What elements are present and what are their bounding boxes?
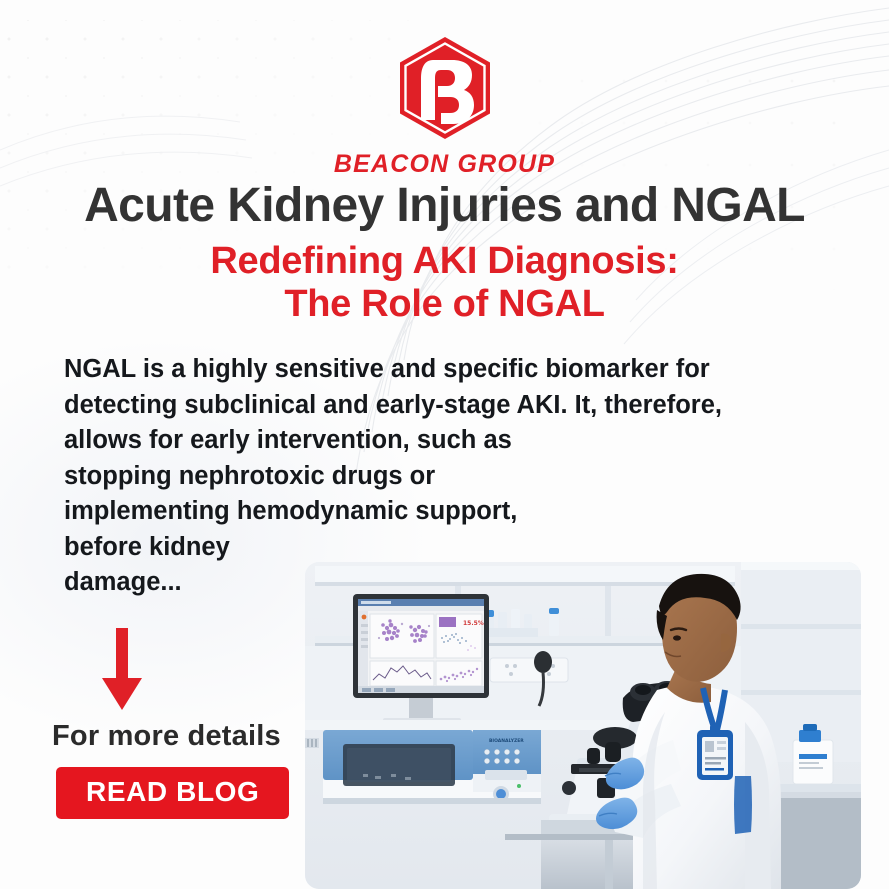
beacon-hexagon-b-logo-icon	[395, 34, 495, 142]
body-line: detecting subclinical and early-stage AK…	[64, 388, 824, 424]
body-line: before kidney	[64, 530, 824, 566]
body-line: NGAL is a highly sensitive and specific …	[64, 352, 824, 388]
page-title: Acute Kidney Injuries and NGAL	[0, 178, 889, 233]
subheading-line-2: The Role of NGAL	[0, 283, 889, 326]
subheading: Redefining AKI Diagnosis: The Role of NG…	[0, 240, 889, 325]
body-line: stopping nephrotoxic drugs or	[64, 459, 824, 495]
body-line: implementing hemodynamic support,	[64, 494, 824, 530]
subheading-line-1: Redefining AKI Diagnosis:	[0, 240, 889, 283]
body-line: damage...	[64, 565, 824, 601]
svg-text:15.5%: 15.5%	[463, 620, 484, 627]
read-blog-button[interactable]: READ BLOG	[56, 767, 289, 819]
cta-caption: For more details	[52, 720, 289, 753]
body-line: allows for early intervention, such as	[64, 423, 824, 459]
arrow-down-icon	[100, 628, 144, 712]
cta-block: For more details READ BLOG	[52, 628, 289, 819]
body-paragraph: NGAL is a highly sensitive and specific …	[64, 352, 824, 601]
poster-canvas: BEACON GROUP Acute Kidney Injuries and N…	[0, 0, 889, 889]
brand-name: BEACON GROUP	[334, 150, 555, 179]
brand-block: BEACON GROUP	[0, 34, 889, 179]
svg-text:BIOANALYZER: BIOANALYZER	[489, 738, 524, 744]
laboratory-photo: 15.5%	[305, 562, 861, 889]
